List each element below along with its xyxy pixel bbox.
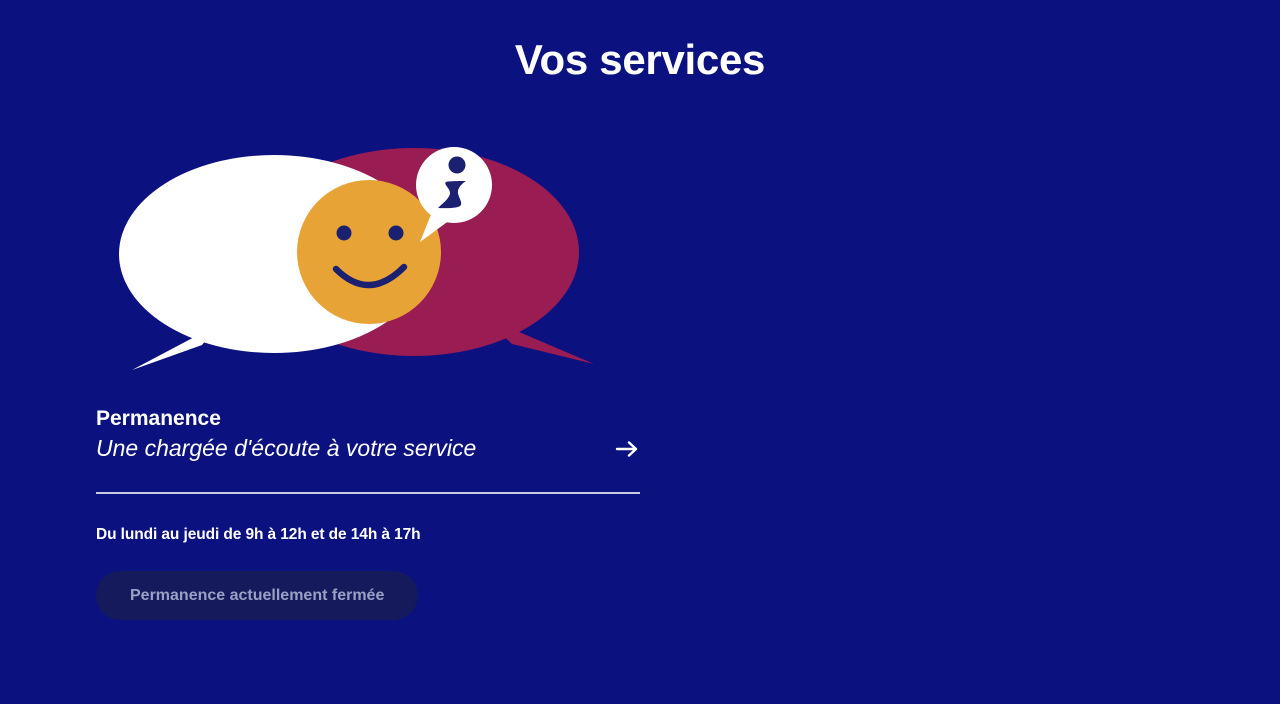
services-section: Vos services <box>0 0 1280 704</box>
page-title: Vos services <box>0 36 1280 84</box>
smiley-face-shape <box>297 180 441 324</box>
card-title-row[interactable]: Une chargée d'écoute à votre service <box>96 434 640 464</box>
card-subtitle: Une chargée d'écoute à votre service <box>96 434 476 464</box>
service-card-ecoute[interactable]: Permanence Une chargée d'écoute à votre … <box>0 132 640 620</box>
services-card-list: Permanence Une chargée d'écoute à votre … <box>0 132 1280 620</box>
arrow-right-icon[interactable] <box>614 436 640 462</box>
status-badge-closed[interactable]: Permanence actuellement fermée <box>96 571 418 620</box>
speech-bubbles-smiley-info-illustration <box>96 132 640 378</box>
service-card-psychologue[interactable]: Permanence Une psychologue à votre écout… <box>640 132 1280 620</box>
card-divider <box>96 492 640 494</box>
card-kicker: Permanence <box>96 406 640 432</box>
card-opening-hours: Du lundi au jeudi de 9h à 12h et de 14h … <box>96 526 640 544</box>
